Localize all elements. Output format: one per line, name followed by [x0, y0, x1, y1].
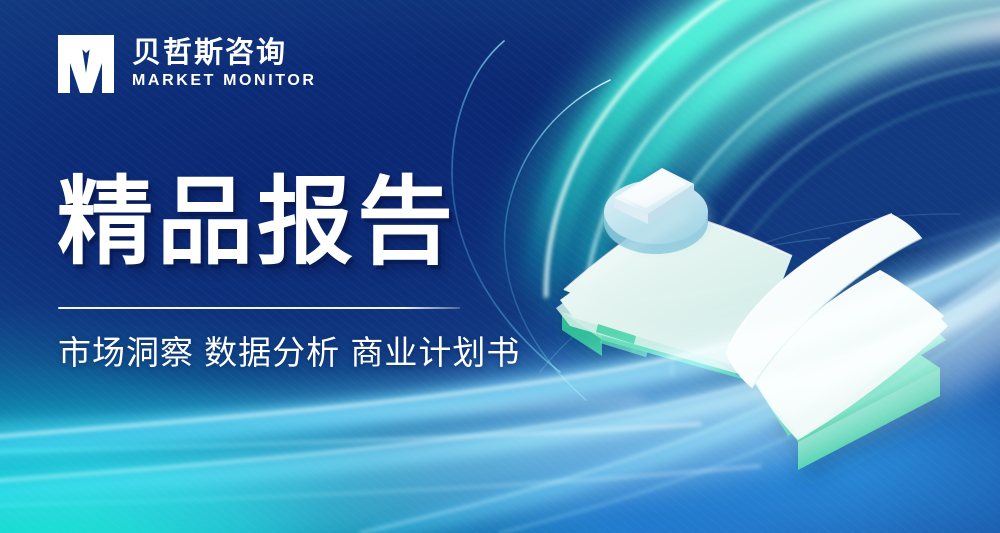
- page-title: 精品报告: [57, 173, 457, 274]
- title-divider: [58, 307, 460, 309]
- brand-name-en: MARKET MONITOR: [132, 73, 317, 89]
- report-poster: 贝哲斯咨询 MARKET MONITOR 精品报告 市场洞察 数据分析 商业计划…: [0, 0, 1000, 533]
- market-monitor-m-logo-icon: [56, 33, 116, 95]
- brand-name-cn: 贝哲斯咨询: [132, 39, 317, 68]
- subtitle: 市场洞察 数据分析 商业计划书: [58, 332, 520, 373]
- brand-logo[interactable]: 贝哲斯咨询 MARKET MONITOR: [56, 33, 317, 95]
